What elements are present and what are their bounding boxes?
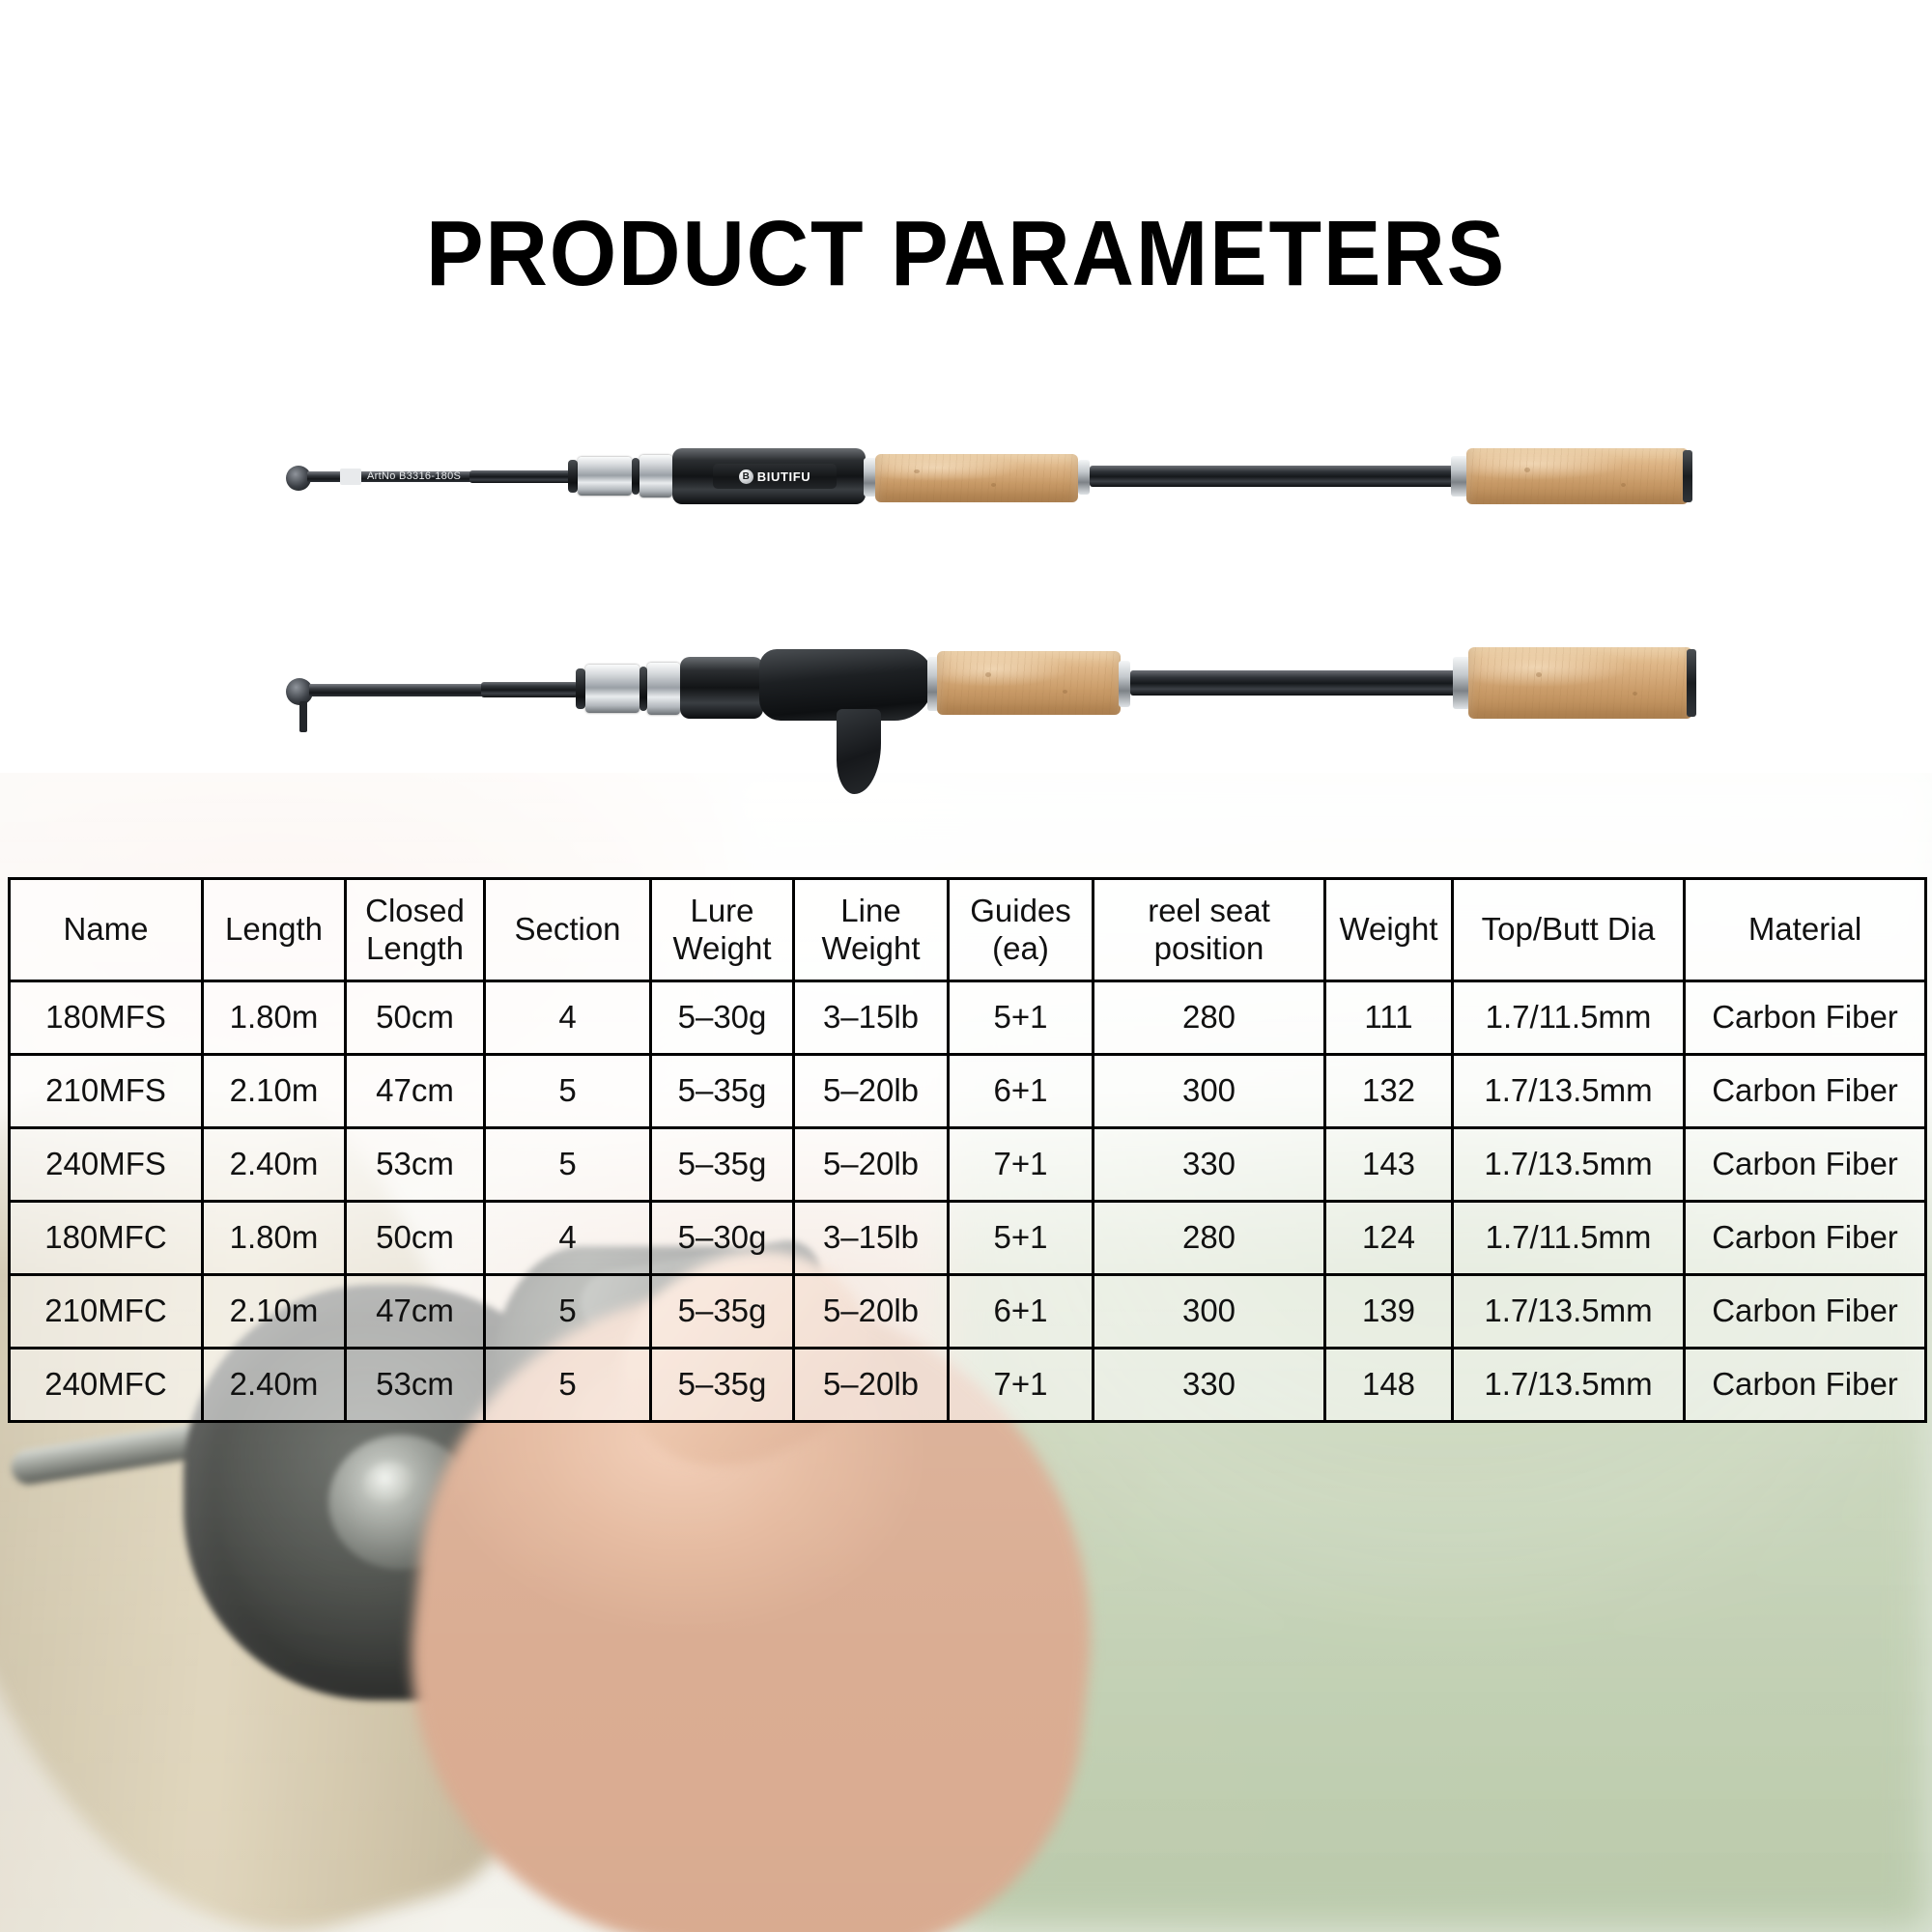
column-header-length: Length	[203, 879, 346, 981]
cork-speck	[1621, 483, 1626, 487]
product-parameters-table: Name Length Closed Length Section Lure W…	[8, 877, 1927, 1423]
cell-reel-seat-position: 300	[1094, 1055, 1325, 1128]
cell-section: 5	[485, 1055, 651, 1128]
cell-lure-weight: 5–30g	[651, 981, 794, 1055]
cell-closed-length: 53cm	[346, 1128, 485, 1202]
rod-tip-section	[309, 684, 483, 696]
cell-top-butt-dia: 1.7/11.5mm	[1453, 981, 1685, 1055]
table-row: 180MFS 1.80m 50cm 4 5–30g 3–15lb 5+1 280…	[10, 981, 1926, 1055]
cell-lure-weight: 5–35g	[651, 1275, 794, 1349]
rod-guide-foot	[299, 701, 307, 732]
header-line-1: Name	[63, 911, 148, 947]
fore-grip-cork	[875, 454, 1078, 502]
cell-length: 2.10m	[203, 1055, 346, 1128]
header-line-1: Guides	[970, 893, 1071, 928]
cell-section: 5	[485, 1349, 651, 1422]
cork-speck	[1536, 672, 1542, 677]
cell-guides: 6+1	[949, 1275, 1094, 1349]
cell-weight: 139	[1325, 1275, 1453, 1349]
page-title: PRODUCT PARAMETERS	[68, 201, 1864, 307]
header-line-2: Length	[366, 930, 464, 966]
cell-top-butt-dia: 1.7/13.5mm	[1453, 1275, 1685, 1349]
table-row: 210MFC 2.10m 47cm 5 5–35g 5–20lb 6+1 300…	[10, 1275, 1926, 1349]
cell-reel-seat-position: 280	[1094, 1202, 1325, 1275]
cell-closed-length: 50cm	[346, 981, 485, 1055]
cell-lure-weight: 5–35g	[651, 1128, 794, 1202]
product-image-casting-rod	[0, 609, 1932, 792]
fore-grip-cork	[937, 651, 1121, 715]
header-line-1: Line	[840, 893, 900, 928]
column-header-guides: Guides (ea)	[949, 879, 1094, 981]
joint-ferrule-dark	[639, 667, 647, 711]
column-header-name: Name	[10, 879, 203, 981]
column-header-material: Material	[1685, 879, 1926, 981]
column-header-closed-length: Closed Length	[346, 879, 485, 981]
cell-weight: 111	[1325, 981, 1453, 1055]
grip-trim-ring	[1078, 460, 1090, 495]
cell-guides: 6+1	[949, 1055, 1094, 1128]
cell-material: Carbon Fiber	[1685, 981, 1926, 1055]
cell-lure-weight: 5–30g	[651, 1202, 794, 1275]
header-line-1: Top/Butt Dia	[1482, 911, 1656, 947]
cell-length: 2.10m	[203, 1275, 346, 1349]
header-line-1: reel seat	[1148, 893, 1270, 928]
column-header-weight: Weight	[1325, 879, 1453, 981]
header-line-1: Lure	[690, 893, 753, 928]
joint-collar	[585, 665, 639, 713]
table-row: 240MFC 2.40m 53cm 5 5–35g 5–20lb 7+1 330…	[10, 1349, 1926, 1422]
cell-section: 4	[485, 1202, 651, 1275]
header-line-1: Section	[514, 911, 620, 947]
cell-line-weight: 5–20lb	[794, 1128, 949, 1202]
grip-trim-ring	[1119, 661, 1130, 707]
cell-material: Carbon Fiber	[1685, 1275, 1926, 1349]
cell-section: 5	[485, 1275, 651, 1349]
cell-material: Carbon Fiber	[1685, 1128, 1926, 1202]
cell-material: Carbon Fiber	[1685, 1055, 1926, 1128]
table-row: 240MFS 2.40m 53cm 5 5–35g 5–20lb 7+1 330…	[10, 1128, 1926, 1202]
joint-ferrule-dark	[576, 668, 585, 709]
butt-cap	[1687, 649, 1696, 717]
cell-top-butt-dia: 1.7/13.5mm	[1453, 1128, 1685, 1202]
cell-guides: 5+1	[949, 981, 1094, 1055]
table-body: 180MFS 1.80m 50cm 4 5–30g 3–15lb 5+1 280…	[10, 981, 1926, 1422]
cell-name: 180MFC	[10, 1202, 203, 1275]
cell-lure-weight: 5–35g	[651, 1349, 794, 1422]
header-line-1: Material	[1748, 911, 1861, 947]
rod-art-no-label: ArtNo B3316-180S	[367, 470, 461, 482]
cell-lure-weight: 5–35g	[651, 1055, 794, 1128]
joint-ferrule-dark	[632, 458, 639, 495]
column-header-reel-seat-position: reel seat position	[1094, 879, 1325, 981]
rod-mid-section	[481, 682, 578, 697]
cell-length: 2.40m	[203, 1349, 346, 1422]
cell-reel-seat-position: 300	[1094, 1275, 1325, 1349]
cell-name: 240MFC	[10, 1349, 203, 1422]
cell-name: 210MFC	[10, 1275, 203, 1349]
column-header-line-weight: Line Weight	[794, 879, 949, 981]
header-line-2: (ea)	[992, 930, 1049, 966]
cell-reel-seat-position: 280	[1094, 981, 1325, 1055]
product-image-spinning-rod: ArtNo B3316-180S B BIUTIFU	[0, 425, 1932, 570]
table-row: 180MFC 1.80m 50cm 4 5–30g 3–15lb 5+1 280…	[10, 1202, 1926, 1275]
brand-badge: B BIUTIFU	[713, 464, 837, 489]
header-line-1: Closed	[365, 893, 465, 928]
cell-weight: 148	[1325, 1349, 1453, 1422]
cell-section: 4	[485, 981, 651, 1055]
cork-speck	[985, 672, 991, 677]
cell-top-butt-dia: 1.7/11.5mm	[1453, 1202, 1685, 1275]
spec-table-container: Name Length Closed Length Section Lure W…	[8, 877, 1924, 1423]
header-line-2: Weight	[672, 930, 771, 966]
table-header-row: Name Length Closed Length Section Lure W…	[10, 879, 1926, 981]
rod-butt-section	[1130, 670, 1459, 696]
rear-grip-cork	[1466, 448, 1689, 504]
header-line-2: Weight	[821, 930, 920, 966]
cell-guides: 5+1	[949, 1202, 1094, 1275]
cell-guides: 7+1	[949, 1128, 1094, 1202]
joint-collar	[647, 663, 680, 715]
cell-weight: 143	[1325, 1128, 1453, 1202]
column-header-top-butt-dia: Top/Butt Dia	[1453, 879, 1685, 981]
cell-reel-seat-position: 330	[1094, 1349, 1325, 1422]
column-header-lure-weight: Lure Weight	[651, 879, 794, 981]
butt-cap	[1683, 450, 1692, 502]
cell-line-weight: 3–15lb	[794, 981, 949, 1055]
cell-closed-length: 50cm	[346, 1202, 485, 1275]
joint-collar	[578, 457, 632, 496]
table-row: 210MFS 2.10m 47cm 5 5–35g 5–20lb 6+1 300…	[10, 1055, 1926, 1128]
cell-section: 5	[485, 1128, 651, 1202]
cork-speck	[1633, 692, 1637, 696]
cell-weight: 132	[1325, 1055, 1453, 1128]
rod-butt-section	[1090, 466, 1457, 487]
trigger-grip	[837, 709, 881, 794]
cell-name: 180MFS	[10, 981, 203, 1055]
cork-speck	[1524, 468, 1530, 472]
cell-closed-length: 47cm	[346, 1275, 485, 1349]
cell-material: Carbon Fiber	[1685, 1349, 1926, 1422]
cell-top-butt-dia: 1.7/13.5mm	[1453, 1055, 1685, 1128]
cell-closed-length: 53cm	[346, 1349, 485, 1422]
cell-weight: 124	[1325, 1202, 1453, 1275]
cell-top-butt-dia: 1.7/13.5mm	[1453, 1349, 1685, 1422]
cell-length: 1.80m	[203, 981, 346, 1055]
cell-closed-length: 47cm	[346, 1055, 485, 1128]
header-line-1: Length	[225, 911, 323, 947]
cell-line-weight: 5–20lb	[794, 1349, 949, 1422]
cork-speck	[1063, 690, 1067, 694]
header-line-1: Weight	[1339, 911, 1437, 947]
cell-length: 2.40m	[203, 1128, 346, 1202]
column-header-section: Section	[485, 879, 651, 981]
cell-line-weight: 5–20lb	[794, 1275, 949, 1349]
joint-ferrule-dark	[568, 460, 578, 493]
cork-speck	[991, 483, 996, 487]
rod-mid-section	[469, 470, 572, 483]
cell-guides: 7+1	[949, 1349, 1094, 1422]
cell-line-weight: 5–20lb	[794, 1055, 949, 1128]
joint-collar	[639, 455, 672, 497]
cell-line-weight: 3–15lb	[794, 1202, 949, 1275]
cork-speck	[914, 469, 920, 473]
reel-seat	[680, 657, 763, 719]
header-line-2: position	[1154, 930, 1264, 966]
rod-decal-box	[340, 469, 361, 485]
rear-grip-cork	[1468, 647, 1692, 719]
cell-name: 240MFS	[10, 1128, 203, 1202]
cell-name: 210MFS	[10, 1055, 203, 1128]
cell-material: Carbon Fiber	[1685, 1202, 1926, 1275]
brand-name-label: BIUTIFU	[757, 469, 810, 484]
cell-length: 1.80m	[203, 1202, 346, 1275]
cell-reel-seat-position: 330	[1094, 1128, 1325, 1202]
brand-logo-icon: B	[739, 469, 753, 484]
